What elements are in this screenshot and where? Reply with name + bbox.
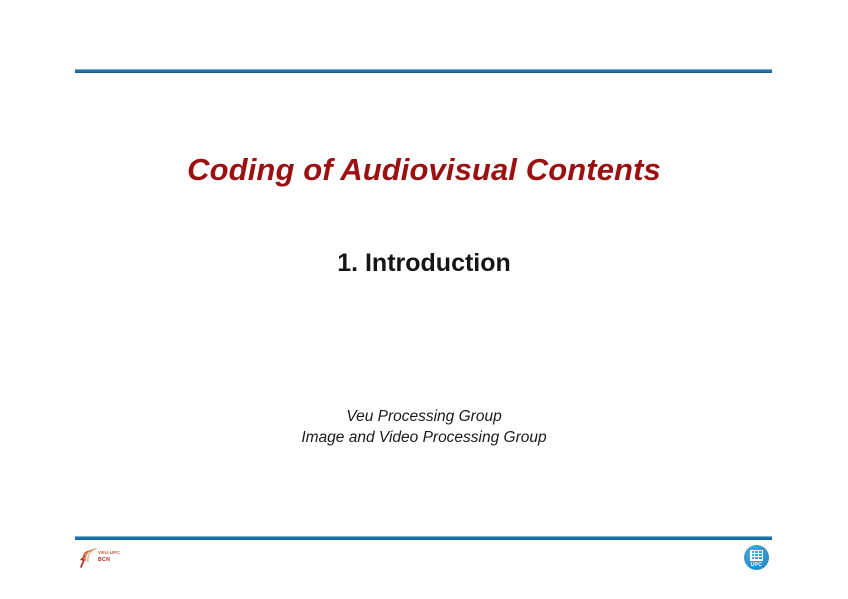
upc-logo: UPC xyxy=(744,545,769,570)
header-divider-rule xyxy=(75,69,772,73)
section-title: 1. Introduction xyxy=(0,246,848,280)
veu-logo: VEU-UPC BCN xyxy=(78,546,126,572)
veu-wordmark: VEU-UPC BCN xyxy=(98,550,126,563)
veu-wordmark-sub: BCN xyxy=(98,557,126,563)
upc-grid-icon xyxy=(750,550,763,561)
slide-canvas: Coding of Audiovisual Contents 1. Introd… xyxy=(0,0,848,599)
affiliation-line-1: Veu Processing Group xyxy=(0,406,848,427)
upc-label: UPC xyxy=(744,562,769,568)
author-affiliations: Veu Processing Group Image and Video Pro… xyxy=(0,406,848,448)
title-block: Coding of Audiovisual Contents 1. Introd… xyxy=(0,150,848,190)
footer-divider-rule xyxy=(75,536,772,540)
veu-wordmark-main: VEU-UPC xyxy=(98,550,126,556)
sound-wave-ear-icon xyxy=(78,547,98,571)
affiliation-line-2: Image and Video Processing Group xyxy=(0,427,848,448)
page-title: Coding of Audiovisual Contents xyxy=(0,150,848,190)
